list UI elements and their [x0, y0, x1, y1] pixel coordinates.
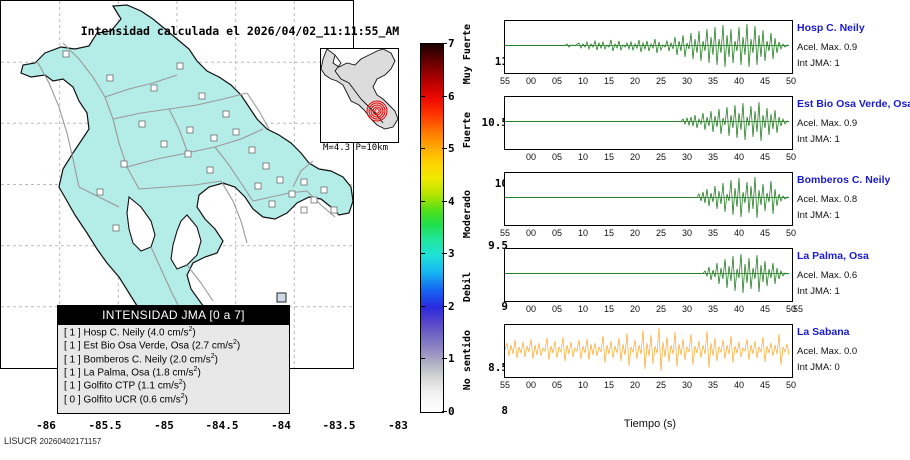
wf1-xtick-50: 50: [779, 76, 803, 86]
cbar-tick-2: [442, 306, 447, 307]
wf2-xtick-05: 05: [545, 152, 569, 162]
cbar-tick-inner-2: [420, 306, 425, 307]
cbar-tick-inner-1: [420, 358, 425, 359]
cbar-label-5: 5: [448, 142, 455, 155]
wf5-xtick-45: 45: [753, 380, 777, 390]
wf3-xtick-00: 00: [519, 228, 543, 238]
wf2-xtick-45: 45: [753, 152, 777, 162]
map-xtick--84.5: -84.5: [194, 419, 250, 432]
legend-accel: (2.0 cm/s: [170, 354, 211, 365]
waveform-trace: [505, 325, 789, 374]
cbar-tick-5: [442, 148, 447, 149]
legend-station: Bomberos C. Neily: [83, 354, 166, 365]
cbar-word-debil: Debil: [462, 272, 473, 302]
waveform-int-jma: Int JMA: 1: [797, 134, 840, 145]
wf3-xtick-20: 20: [623, 228, 647, 238]
footer: LISUCR 20260402171157: [4, 436, 101, 446]
waveform-station-name: Hosp C. Neily: [797, 22, 865, 34]
cbar-tick-inner-3: [420, 253, 425, 254]
wf4-xtick-30: 30: [675, 304, 699, 314]
wf3-xtick-50: 50: [779, 228, 803, 238]
waveform-panel-hosp-c-neily[interactable]: [504, 20, 793, 74]
wf3-xtick-05: 05: [545, 228, 569, 238]
event-magnitude-label: M=4.3 P=10km: [323, 143, 388, 153]
wf4-xtick-00: 00: [519, 304, 543, 314]
wf2-xtick-15: 15: [597, 152, 621, 162]
map-ytick-10: 10: [462, 177, 508, 190]
waveform-int-jma: Int JMA: 1: [797, 286, 840, 297]
map-ytick-8: 8: [462, 404, 508, 417]
wf3-xtick-35: 35: [701, 228, 725, 238]
waveform-station-name: Est Bio Osa Verde, Osa: [797, 98, 910, 110]
wf4-xtick-40: 40: [727, 304, 751, 314]
wf5-xtick-30: 30: [675, 380, 699, 390]
wf5-xtick-35: 35: [701, 380, 725, 390]
wf2-xtick-35: 35: [701, 152, 725, 162]
map-xtick--84: -84: [253, 419, 309, 432]
agency-label: LISUCR: [4, 436, 37, 446]
wf4-xtick-10: 10: [571, 304, 595, 314]
wf5-xtick-55: 55: [493, 380, 517, 390]
wf1-xtick-05: 05: [545, 76, 569, 86]
map-xtick--83: -83: [370, 419, 426, 432]
waveform-accel-max: Acel. Max. 0.9: [797, 118, 857, 129]
waveform-panel-la-sabana[interactable]: [504, 324, 793, 378]
wf5-xtick-20: 20: [623, 380, 647, 390]
list-item: [ 1 ] Hosp C. Neily (4.0 cm/s2): [58, 325, 289, 338]
wf5-xtick-50: 50: [779, 380, 803, 390]
cbar-label-2: 2: [448, 300, 455, 313]
legend-accel: (0.6 cm/s: [140, 394, 181, 405]
waveform-trace: [505, 97, 789, 146]
wf1-xtick-15: 15: [597, 76, 621, 86]
wf2-xtick-40: 40: [727, 152, 751, 162]
inset-svg: [321, 49, 398, 142]
wf4-xtick-15: 15: [597, 304, 621, 314]
list-item: [ 1 ] Est Bio Osa Verde, Osa (2.7 cm/s2): [58, 338, 289, 351]
wf2-xtick-30: 30: [675, 152, 699, 162]
cbar-tick-7: [442, 43, 447, 44]
wf4-xtick-35: 35: [701, 304, 725, 314]
legend-accel: (1.8 cm/s: [152, 367, 193, 378]
list-item: [ 1 ] Golfito CTP (1.1 cm/s2): [58, 378, 289, 391]
wf4-xtick-05: 05: [545, 304, 569, 314]
legend-level: [ 1 ]: [64, 367, 81, 378]
wf2-xtick-25: 25: [649, 152, 673, 162]
wf3-xtick-40: 40: [727, 228, 751, 238]
cbar-tick-inner-4: [420, 201, 425, 202]
wf2-xtick-10: 10: [571, 152, 595, 162]
list-item: [ 0 ] Golfito UCR (0.6 cm/s2): [58, 392, 289, 405]
wf5-xtick-25: 25: [649, 380, 673, 390]
wf4-xtick-55: 55: [786, 304, 810, 314]
map-ytick-9.5: 9.5: [462, 239, 508, 252]
cbar-label-0: 0: [448, 405, 455, 418]
legend-level: [ 1 ]: [64, 327, 81, 338]
legend-station: Golfito UCR: [83, 394, 136, 405]
legend-station: Hosp C. Neily: [83, 327, 144, 338]
wf4-xtick-45: 45: [753, 304, 777, 314]
waveform-panel-la-palma-osa[interactable]: [504, 248, 793, 302]
cbar-label-7: 7: [448, 37, 455, 50]
wf3-xtick-25: 25: [649, 228, 673, 238]
wf5-xtick-10: 10: [571, 380, 595, 390]
legend-close: ): [185, 394, 188, 405]
wf1-xtick-10: 10: [571, 76, 595, 86]
wf3-xtick-45: 45: [753, 228, 777, 238]
waveform-station-name: Bomberos C. Neily: [797, 174, 890, 186]
wf1-xtick-40: 40: [727, 76, 751, 86]
legend-header: INTENSIDAD JMA [0 a 7]: [58, 306, 289, 325]
cbar-word-muy-fuerte: Muy Fuerte: [462, 24, 473, 84]
legend-close: ): [215, 354, 218, 365]
timestamp-stamp: 20260402171157: [40, 437, 102, 446]
wf3-xtick-15: 15: [597, 228, 621, 238]
legend-accel: (2.7 cm/s: [192, 341, 233, 352]
cbar-tick-0: [442, 411, 447, 412]
legend-close: ): [183, 381, 186, 392]
waveform-trace: [505, 173, 789, 222]
wf2-xtick-20: 20: [623, 152, 647, 162]
cbar-tick-inner-5: [420, 148, 425, 149]
legend-level: [ 1 ]: [64, 354, 81, 365]
legend-close: ): [192, 327, 195, 338]
intensity-legend: INTENSIDAD JMA [0 a 7] [ 1 ] Hosp C. Nei…: [57, 305, 290, 414]
legend-level: [ 1 ]: [64, 381, 81, 392]
map-xtick--83.5: -83.5: [311, 419, 367, 432]
waveform-trace: [505, 21, 789, 70]
legend-station: La Palma, Osa: [83, 367, 149, 378]
waveform-accel-max: Acel. Max. 0.9: [797, 42, 857, 53]
page-title: Intensidad calculada el 2026/04/02_11:11…: [60, 24, 420, 38]
waveform-panel-est-bio-osa-verde[interactable]: [504, 96, 793, 150]
legend-accel: (4.0 cm/s: [147, 327, 188, 338]
waveform-int-jma: Int JMA: 1: [797, 210, 840, 221]
cbar-label-1: 1: [448, 352, 455, 365]
cbar-tick-4: [442, 201, 447, 202]
legend-level: [ 0 ]: [64, 394, 81, 405]
wf1-xtick-30: 30: [675, 76, 699, 86]
wf1-xtick-35: 35: [701, 76, 725, 86]
waveform-station-name: La Palma, Osa: [797, 250, 869, 262]
locator-inset-map[interactable]: [320, 48, 399, 143]
cbar-tick-6: [442, 96, 447, 97]
waveform-station-name: La Sabana: [797, 326, 850, 338]
cbar-label-4: 4: [448, 195, 455, 208]
wf3-xtick-10: 10: [571, 228, 595, 238]
station-marker-golfito[interactable]: [277, 293, 286, 302]
map-xtick--85: -85: [136, 419, 192, 432]
waveform-accel-max: Acel. Max. 0.8: [797, 194, 857, 205]
wf5-xtick-40: 40: [727, 380, 751, 390]
wf5-xtick-00: 00: [519, 380, 543, 390]
wf4-xtick-20: 20: [623, 304, 647, 314]
wf5-xtick-15: 15: [597, 380, 621, 390]
wf1-xtick-55: 55: [493, 76, 517, 86]
legend-close: ): [237, 341, 240, 352]
wf1-xtick-25: 25: [649, 76, 673, 86]
wf2-xtick-00: 00: [519, 152, 543, 162]
waveform-panel-bomberos-c-neily[interactable]: [504, 172, 793, 226]
map-xtick--85.5: -85.5: [77, 419, 133, 432]
wf3-xtick-30: 30: [675, 228, 699, 238]
waveform-trace: [505, 249, 789, 298]
cbar-label-3: 3: [448, 247, 455, 260]
cbar-word-fuerte: Fuerte: [462, 112, 473, 148]
wf2-xtick-50: 50: [779, 152, 803, 162]
legend-accel: (1.1 cm/s: [138, 381, 179, 392]
waveform-accel-max: Acel. Max. 0.0: [797, 346, 857, 357]
x-axis-label: Tiempo (s): [560, 418, 740, 430]
legend-station: Est Bio Osa Verde, Osa: [83, 341, 189, 352]
wf4-xtick-25: 25: [649, 304, 673, 314]
waveform-accel-max: Acel. Max. 0.6: [797, 270, 857, 281]
cbar-tick-inner-6: [420, 96, 425, 97]
wf1-xtick-45: 45: [753, 76, 777, 86]
wf5-xtick-05: 05: [545, 380, 569, 390]
waveform-int-jma: Int JMA: 1: [797, 58, 840, 69]
legend-station: Golfito CTP: [83, 381, 135, 392]
cbar-tick-3: [442, 253, 447, 254]
cbar-word-no-sentido: No sentido: [462, 330, 473, 390]
wf1-xtick-00: 00: [519, 76, 543, 86]
wf1-xtick-20: 20: [623, 76, 647, 86]
list-item: [ 1 ] La Palma, Osa (1.8 cm/s2): [58, 365, 289, 378]
wf3-xtick-55: 55: [493, 228, 517, 238]
cbar-tick-1: [442, 358, 447, 359]
legend-level: [ 1 ]: [64, 341, 81, 352]
legend-close: ): [197, 367, 200, 378]
waveform-int-jma: Int JMA: 0: [797, 362, 840, 373]
cbar-label-6: 6: [448, 90, 455, 103]
cbar-word-moderado: Moderado: [462, 190, 473, 238]
list-item: [ 1 ] Bomberos C. Neily (2.0 cm/s2): [58, 352, 289, 365]
map-xtick--86: -86: [18, 419, 74, 432]
